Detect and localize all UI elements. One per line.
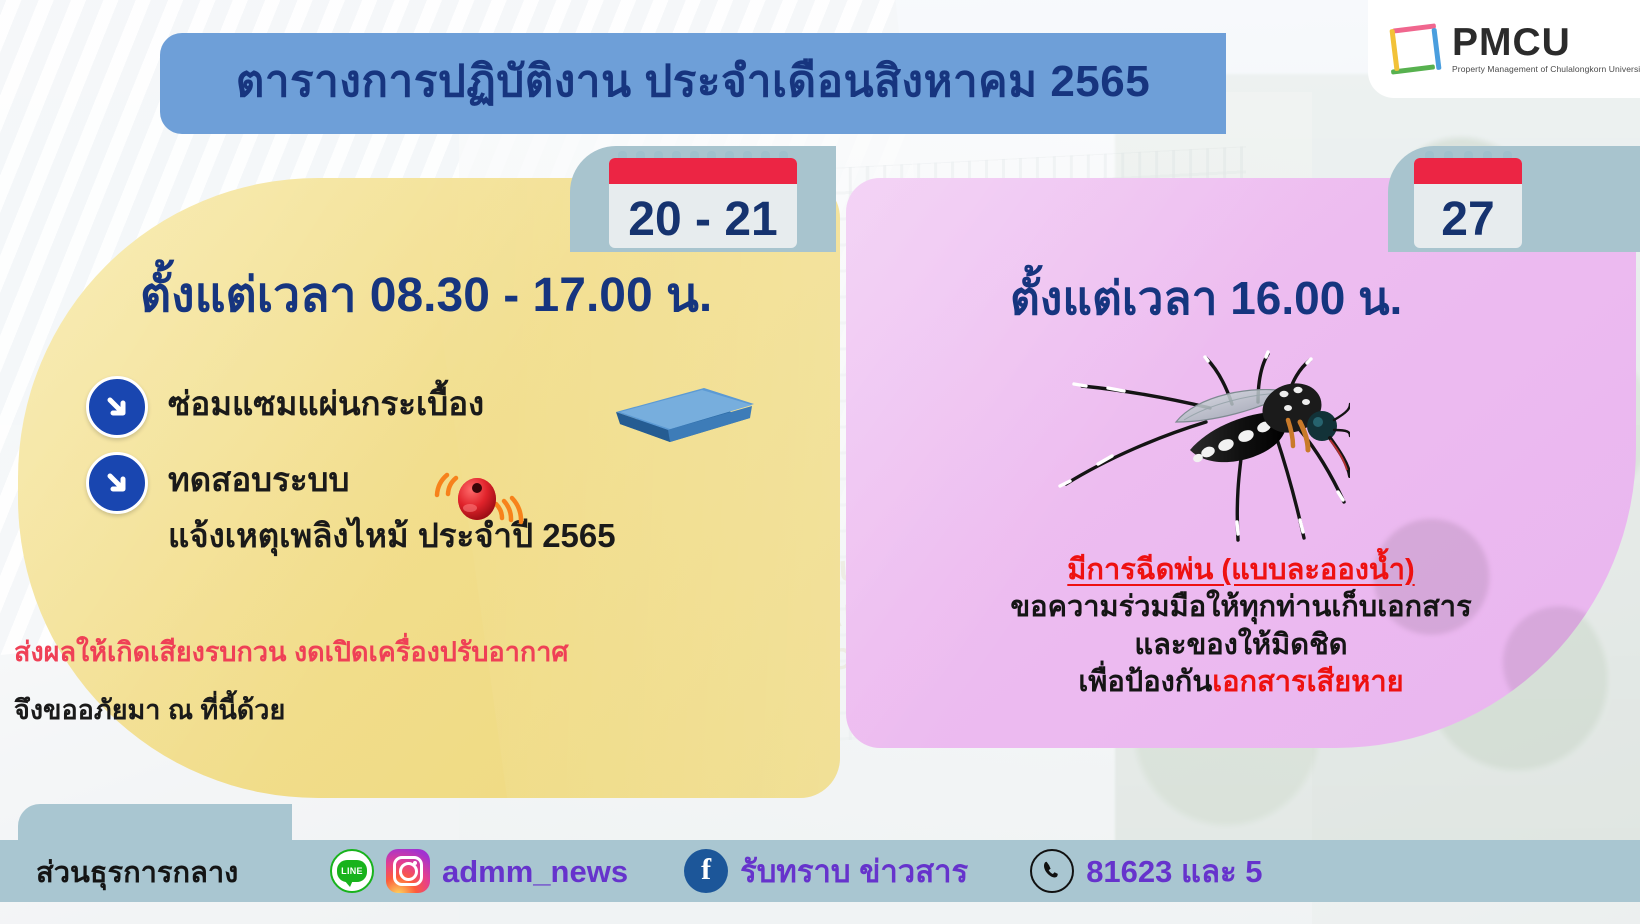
logo-subtitle: Property Management of Chulalongkorn Uni… bbox=[1452, 64, 1640, 74]
facebook-icon[interactable]: f bbox=[684, 849, 728, 893]
phone-number: 81623 และ 5 bbox=[1086, 856, 1262, 887]
bullet-label-2: ทดสอบระบบ bbox=[168, 452, 616, 502]
instagram-handle: admm_news bbox=[442, 856, 628, 887]
left-panel-note-black: จึงขออภัยมา ณ ที่นี้ด้วย bbox=[14, 696, 285, 726]
right-body-line-4-prefix: เพื่อป้องกัน bbox=[1078, 666, 1212, 698]
right-body-line-4: เพื่อป้องกันเอกสารเสียหาย bbox=[846, 664, 1636, 702]
bullet-label-2-line2: แจ้งเหตุเพลิงไหม้ ประจำปี 2565 bbox=[168, 508, 616, 558]
calendar-icon-left: 20 - 21 bbox=[609, 158, 797, 248]
right-calendar-date: 27 bbox=[1441, 196, 1494, 244]
instagram-icon[interactable] bbox=[386, 849, 430, 893]
left-panel-note-red: ส่งผลให้เกิดเสียงรบกวน งดเปิดเครื่องปรับ… bbox=[14, 638, 569, 668]
logo-name: PMCU bbox=[1452, 24, 1640, 61]
right-body-line-4-highlight: เอกสารเสียหาย bbox=[1212, 666, 1403, 698]
right-panel-heading: ตั้งแต่เวลา 16.00 น. bbox=[1010, 275, 1402, 321]
left-calendar-date: 20 - 21 bbox=[628, 196, 777, 244]
arrow-down-right-icon bbox=[86, 376, 148, 438]
calendar-icon-right: 27 bbox=[1414, 158, 1522, 248]
header-bar: ตารางการปฏิบัติงาน ประจำเดือนสิงหาคม 256… bbox=[160, 33, 1226, 134]
bullet-label-1: ซ่อมแซมแผ่นกระเบื้อง bbox=[168, 376, 484, 426]
phone-icon[interactable] bbox=[1030, 849, 1074, 893]
calendar-topbar-left bbox=[609, 158, 797, 184]
footer-contact-list: LINE admm_news f รับทราบ ข่าวสาร 81623 แ… bbox=[330, 840, 1263, 902]
arrow-down-right-icon bbox=[86, 452, 148, 514]
page-title: ตารางการปฏิบัติงาน ประจำเดือนสิงหาคม 256… bbox=[236, 60, 1150, 108]
fire-alarm-bell-icon bbox=[430, 468, 524, 530]
right-panel-body: มีการฉีดพ่น (แบบละอองน้ำ) ขอความร่วมมือใ… bbox=[846, 552, 1636, 702]
poster-stage: PMCUPROPERTY MANAGEMENTOF CHULALONGKORN … bbox=[0, 0, 1640, 924]
footer-department-tag: ส่วนธุรการกลาง bbox=[18, 804, 292, 902]
left-panel-heading: ตั้งแต่เวลา 08.30 - 17.00 น. bbox=[140, 272, 712, 320]
roof-tiles-icon bbox=[612, 382, 758, 448]
contact-instagram[interactable]: LINE admm_news bbox=[330, 849, 628, 893]
pmcu-square-mark-icon bbox=[1388, 22, 1442, 76]
right-body-line-2: ขอความร่วมมือให้ทุกท่านเก็บเอกสาร bbox=[846, 589, 1636, 627]
line-icon[interactable]: LINE bbox=[330, 849, 374, 893]
footer-department-label: ส่วนธุรการกลาง bbox=[36, 859, 238, 888]
facebook-label: รับทราบ ข่าวสาร bbox=[740, 856, 968, 887]
contact-phone[interactable]: 81623 และ 5 bbox=[1030, 849, 1262, 893]
calendar-topbar-right bbox=[1414, 158, 1522, 184]
mosquito-photo bbox=[1000, 326, 1350, 556]
right-body-line-1: มีการฉีดพ่น (แบบละอองน้ำ) bbox=[846, 552, 1636, 589]
pmcu-logo: PMCU Property Management of Chulalongkor… bbox=[1368, 0, 1640, 98]
right-body-line-3: และของให้มิดชิด bbox=[846, 627, 1636, 665]
contact-facebook[interactable]: f รับทราบ ข่าวสาร bbox=[684, 849, 968, 893]
